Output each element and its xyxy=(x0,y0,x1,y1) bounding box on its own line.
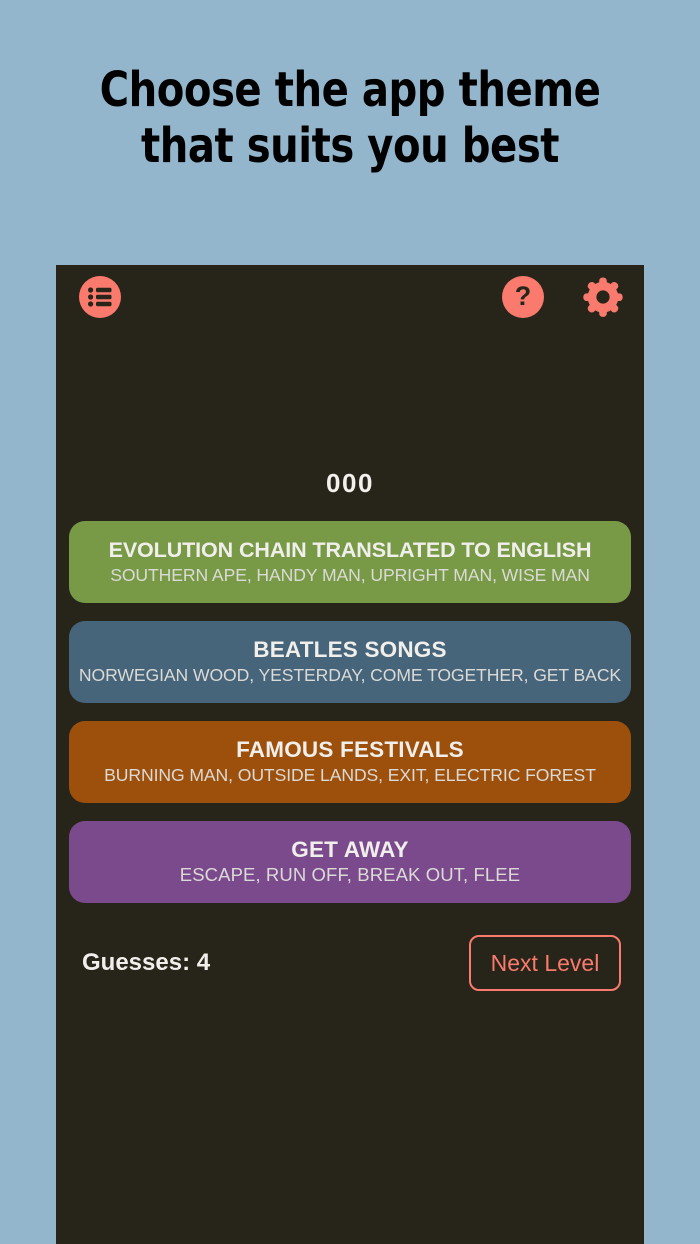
guess-counter: 000 xyxy=(56,468,644,499)
category-card-items: ESCAPE, RUN OFF, BREAK OUT, FLEE xyxy=(180,863,520,887)
promo-headline-line-2: that suits you best xyxy=(25,118,676,174)
gear-icon[interactable] xyxy=(579,273,627,321)
category-card-items: NORWEGIAN WOOD, YESTERDAY, COME TOGETHER… xyxy=(79,663,621,687)
app-topbar: ? xyxy=(56,265,644,335)
category-card-items: BURNING MAN, OUTSIDE LANDS, EXIT, ELECTR… xyxy=(104,763,596,787)
next-level-button[interactable]: Next Level xyxy=(469,935,621,991)
category-card-list: EVOLUTION CHAIN TRANSLATED TO ENGLISH SO… xyxy=(69,521,631,921)
category-card[interactable]: GET AWAY ESCAPE, RUN OFF, BREAK OUT, FLE… xyxy=(69,821,631,903)
app-footer: Guesses: 4 Next Level xyxy=(56,935,644,997)
category-card[interactable]: BEATLES SONGS NORWEGIAN WOOD, YESTERDAY,… xyxy=(69,621,631,703)
app-screen: ? 000 EVOLUTION CHAIN TRANSLATED TO ENGL… xyxy=(56,265,644,1244)
list-icon[interactable] xyxy=(79,276,121,318)
promo-headline-line-1: Choose the app theme xyxy=(25,62,676,118)
category-card-title: GET AWAY xyxy=(291,837,408,863)
category-card-title: FAMOUS FESTIVALS xyxy=(236,737,464,763)
category-card-items: SOUTHERN APE, HANDY MAN, UPRIGHT MAN, WI… xyxy=(110,563,590,587)
help-icon-label: ? xyxy=(515,283,532,310)
help-icon[interactable]: ? xyxy=(502,276,544,318)
category-card[interactable]: EVOLUTION CHAIN TRANSLATED TO ENGLISH SO… xyxy=(69,521,631,603)
category-card-title: EVOLUTION CHAIN TRANSLATED TO ENGLISH xyxy=(109,537,592,563)
guesses-label: Guesses: 4 xyxy=(82,949,210,977)
category-card-title: BEATLES SONGS xyxy=(253,637,446,663)
promo-headline: Choose the app theme that suits you best xyxy=(25,62,676,174)
category-card[interactable]: FAMOUS FESTIVALS BURNING MAN, OUTSIDE LA… xyxy=(69,721,631,803)
